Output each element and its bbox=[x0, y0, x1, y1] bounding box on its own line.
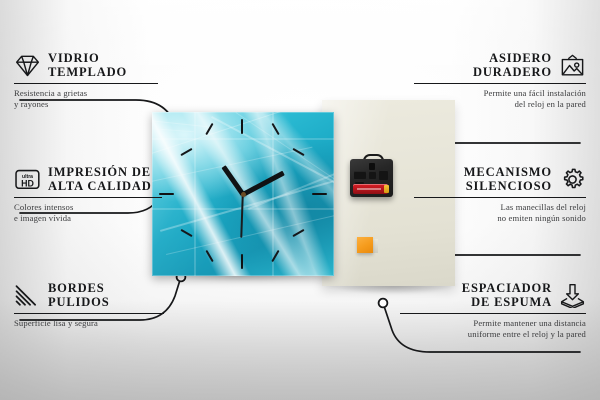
clock-center-pivot bbox=[241, 192, 246, 197]
feature-espaciador-de-espuma: ESPACIADOR DE ESPUMA Permite mantener un… bbox=[400, 282, 586, 340]
feature-description: Permite una fácil instalación del reloj … bbox=[414, 88, 586, 109]
feature-divider bbox=[14, 83, 158, 84]
product-photo-group bbox=[150, 96, 450, 286]
picture-frame-hanger-icon bbox=[559, 53, 586, 78]
feature-description: Colores intensos e imagen vívida bbox=[14, 202, 162, 223]
ultra-hd-badge-icon: ultra HD bbox=[14, 167, 41, 192]
feature-title: BORDES PULIDOS bbox=[48, 282, 110, 309]
feature-description: Superficie lisa y segura bbox=[14, 318, 164, 329]
clock-mechanism bbox=[350, 159, 393, 197]
feature-divider bbox=[414, 197, 586, 198]
feature-vidrio-templado: VIDRIO TEMPLADO Resistencia a grietas y … bbox=[14, 52, 158, 110]
feature-title: IMPRESIÓN DE ALTA CALIDAD bbox=[48, 166, 152, 193]
feature-divider bbox=[414, 83, 586, 84]
foam-spacer-side bbox=[373, 239, 378, 253]
feature-title: ESPACIADOR DE ESPUMA bbox=[462, 282, 552, 309]
infographic-canvas: VIDRIO TEMPLADO Resistencia a grietas y … bbox=[0, 0, 600, 400]
feature-title: MECANISMO SILENCIOSO bbox=[464, 166, 552, 193]
feature-divider bbox=[400, 313, 586, 314]
aa-battery bbox=[353, 184, 388, 194]
mechanism-body bbox=[350, 159, 393, 197]
feature-asidero-duradero: ASIDERO DURADERO Permite una fácil insta… bbox=[414, 52, 586, 110]
polished-edges-icon bbox=[14, 283, 41, 308]
battery-label-band bbox=[357, 188, 381, 190]
battery-positive-tip bbox=[384, 185, 389, 193]
feature-description: Permite mantener una distancia uniforme … bbox=[400, 318, 586, 339]
feature-description: Resistencia a grietas y rayones bbox=[14, 88, 158, 109]
feature-mecanismo-silencioso: MECANISMO SILENCIOSO Las manecillas del … bbox=[414, 166, 586, 224]
feature-divider bbox=[14, 197, 162, 198]
diamond-icon bbox=[14, 53, 41, 78]
mechanism-shaft bbox=[369, 163, 375, 170]
arrow-down-layers-icon bbox=[559, 283, 586, 308]
feature-title: VIDRIO TEMPLADO bbox=[48, 52, 127, 79]
feature-impresion-alta-calidad: ultra HD IMPRESIÓN DE ALTA CALIDAD Color… bbox=[14, 166, 162, 224]
feature-title: ASIDERO DURADERO bbox=[473, 52, 552, 79]
feature-bordes-pulidos: BORDES PULIDOS Superficie lisa y segura bbox=[14, 282, 164, 329]
feature-divider bbox=[14, 313, 164, 314]
gear-icon bbox=[559, 167, 586, 192]
foam-spacer bbox=[357, 237, 373, 253]
ultra-hd-bottom-text: HD bbox=[21, 178, 34, 188]
glass-clock-face bbox=[152, 112, 334, 276]
feature-description: Las manecillas del reloj no emiten ningú… bbox=[414, 202, 586, 223]
